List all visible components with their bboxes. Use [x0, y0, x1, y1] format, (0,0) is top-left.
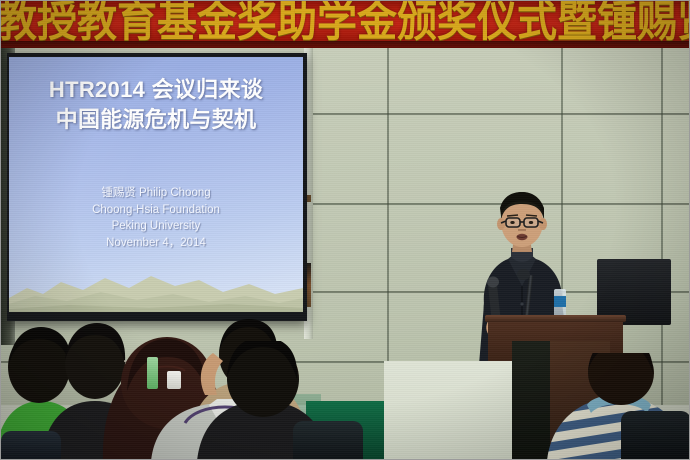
wall-lower-right [384, 361, 512, 460]
slide-subtitle-block: 锺赐贤 Philip Choong Choong-Hsia Foundation… [9, 185, 303, 251]
ceremony-banner: 教授教育基金奖助学金颁奖仪式暨锺赐贤教授学 [1, 1, 690, 48]
podium-top [485, 315, 626, 322]
water-bottle-label [554, 296, 566, 307]
chair-back-left [1, 431, 61, 460]
ceremony-banner-text: 教授教育基金奖助学金颁奖仪式暨锺赐贤教授学 [1, 1, 690, 46]
slide-title: HTR2014 会议归来谈 中国能源危机与契机 [9, 75, 303, 135]
slide-date: November 4，2014 [9, 235, 303, 252]
chair-back-center [293, 421, 363, 460]
chair-back-right [621, 411, 690, 460]
projection-screen: HTR2014 会议归来谈 中国能源危机与契机 锺赐贤 Philip Choon… [9, 57, 303, 312]
slide-title-line2: 中国能源危机与契机 [9, 105, 303, 135]
slide-organization: Choong-Hsia Foundation [9, 202, 303, 219]
lecture-hall-photo: HTR2014 会议归来谈 中国能源危机与契机 锺赐贤 Philip Choon… [0, 0, 690, 460]
gooseneck-microphone-head [517, 269, 530, 280]
banner-shadow [1, 41, 690, 48]
slide-presenter: 锺赐贤 Philip Choong [9, 185, 303, 202]
slide-mountain-graphic [9, 268, 303, 312]
slide-title-line1: HTR2014 会议归来谈 [9, 75, 303, 105]
slide-affiliation: Peking University [9, 218, 303, 235]
